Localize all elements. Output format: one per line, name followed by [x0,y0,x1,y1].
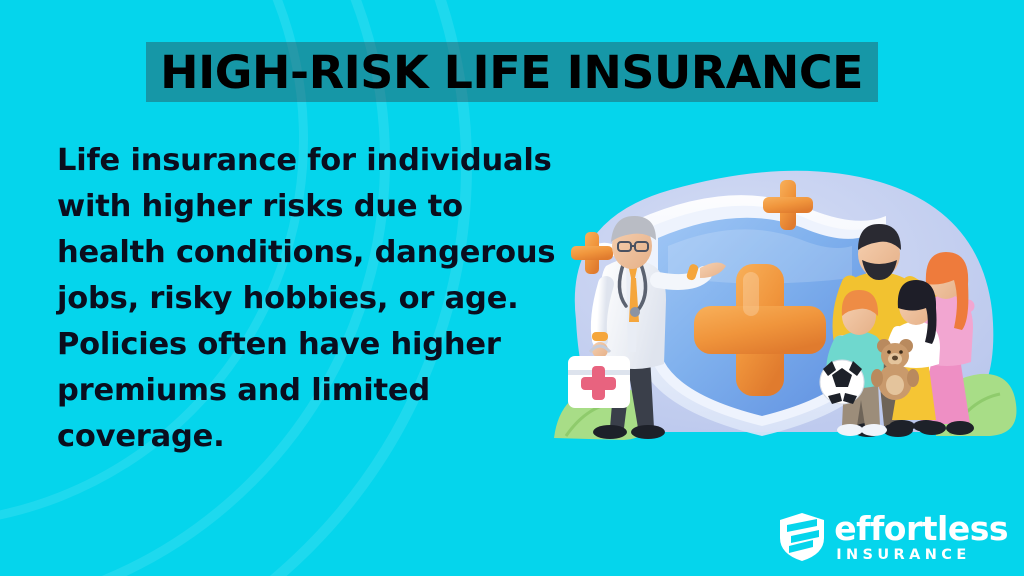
title-band: HIGH-RISK LIFE INSURANCE [146,42,878,102]
body-paragraph: Life insurance for individuals with high… [57,138,557,460]
logo-wordmark-group: effortless INSURANCE [834,512,1008,563]
hero-illustration [540,160,1024,460]
soccer-ball [820,360,864,404]
doctor-shoe [631,425,665,439]
poster-canvas: HIGH-RISK LIFE INSURANCE Life insurance … [0,0,1024,576]
logo-subword: INSURANCE [834,548,1008,563]
page-title: HIGH-RISK LIFE INSURANCE [160,46,863,99]
doctor-shoe [593,425,627,439]
logo-wordmark: effortless [834,512,1008,545]
brand-logo: effortless INSURANCE [779,512,1008,563]
shield-logo-icon [779,512,825,562]
